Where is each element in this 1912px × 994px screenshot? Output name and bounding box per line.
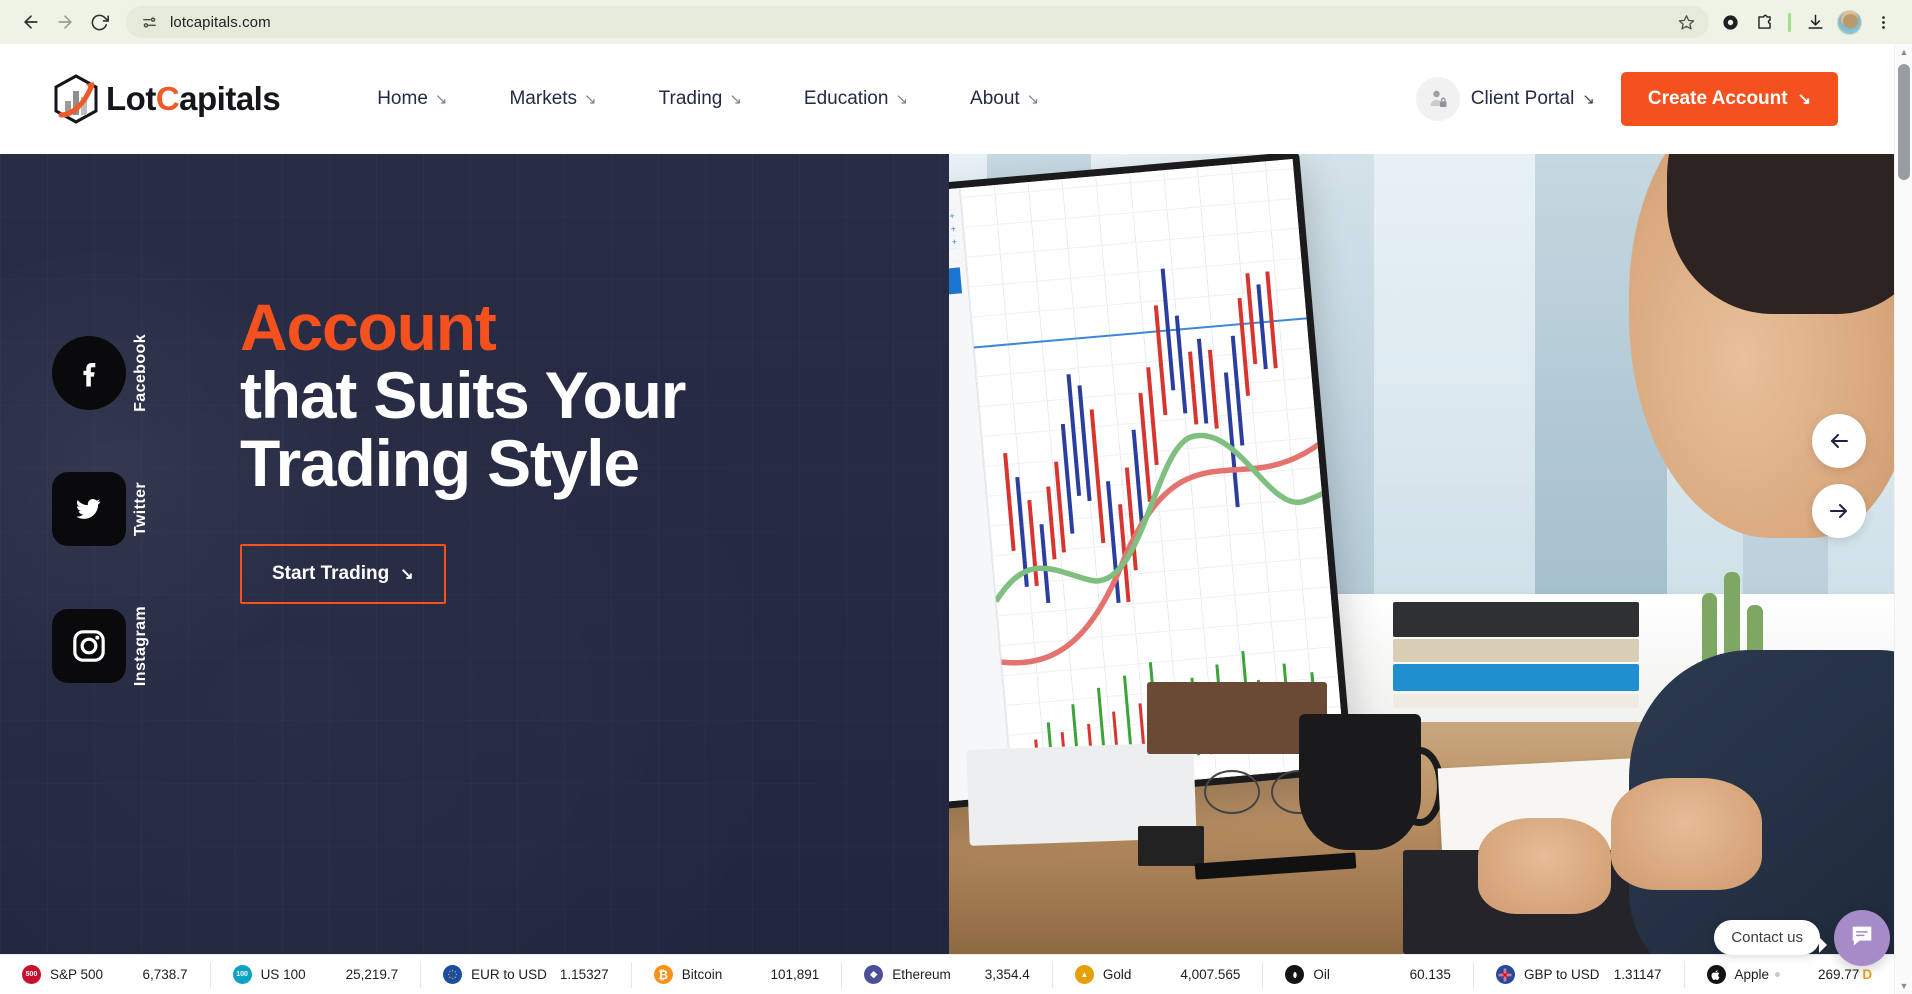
ticker-value: 3,354.4 — [985, 967, 1030, 982]
ticker-name: S&P 500 — [50, 967, 103, 982]
forward-button[interactable] — [48, 5, 82, 39]
sp500-icon: 500 — [22, 965, 41, 984]
us100-icon: 100 — [233, 965, 252, 984]
hero-heading: Account that Suits Your Trading Style — [240, 294, 685, 498]
nav-item-markets[interactable]: Markets ↘ — [478, 88, 627, 110]
nav-label: Markets — [509, 88, 577, 110]
nav-item-home[interactable]: Home ↘ — [346, 88, 478, 110]
ticker-name: Bitcoin — [682, 967, 723, 982]
person-hand-2 — [1478, 818, 1610, 914]
nav-item-about[interactable]: About ↘ — [939, 88, 1070, 110]
nav-label: Home — [377, 88, 428, 110]
ticker-item-gold[interactable]: ▲ Gold 4,007.565 — [1052, 962, 1263, 988]
ticker-item-sp500[interactable]: 500 S&P 500 6,738.7 — [0, 962, 210, 988]
ticker-item-oil[interactable]: Oil 60.135 — [1262, 962, 1473, 988]
social-label-instagram: Instagram — [132, 606, 150, 686]
bookmark-star-icon[interactable] — [1673, 9, 1699, 35]
site-info-icon[interactable] — [136, 9, 162, 35]
ticker-value: 1.15327 — [560, 967, 609, 982]
contact-us-button[interactable] — [1834, 910, 1890, 966]
office-desk-photo: -0.1 + + + Buy — [949, 154, 1894, 954]
hero-heading-line-2: that Suits Your — [240, 362, 685, 430]
chevron-diagonal-icon: ↘ — [729, 92, 742, 107]
carousel-next-button[interactable] — [1812, 484, 1866, 538]
chevron-diagonal-icon: ↘ — [584, 92, 597, 107]
nav-label: Education — [804, 88, 889, 110]
url-text: lotcapitals.com — [170, 14, 271, 31]
binder-clip — [1138, 826, 1204, 866]
carousel-prev-button[interactable] — [1812, 414, 1866, 468]
hero-heading-line-1: Account — [240, 290, 496, 364]
person-hand — [1611, 778, 1762, 890]
ticker-item-bitcoin[interactable]: ₿ Bitcoin 101,891 — [631, 962, 842, 988]
client-portal-label: Client Portal ↘ — [1471, 88, 1595, 110]
gold-icon: ▲ — [1075, 965, 1094, 984]
scroll-up-arrow-icon[interactable]: ▲ — [1895, 44, 1912, 60]
social-link-facebook[interactable]: Facebook — [52, 334, 150, 412]
uk-flag-icon — [1496, 965, 1515, 984]
user-lock-icon — [1416, 77, 1460, 121]
ticker-name: EUR to USD — [471, 967, 547, 982]
social-label-twitter: Twitter — [132, 482, 150, 536]
ticker-status-dot — [1775, 972, 1780, 977]
hero-section: Facebook Twitter Instagram Account that … — [0, 154, 1894, 954]
nav-item-education[interactable]: Education ↘ — [773, 88, 939, 110]
logo-text: LotCapitals — [106, 80, 280, 118]
ticker-item-eurusd[interactable]: EUR to USD 1.15327 — [420, 962, 631, 988]
ticker-value: 1.31147 — [1614, 967, 1662, 982]
nav-item-trading[interactable]: Trading ↘ — [628, 88, 773, 110]
nav-label: Trading — [659, 88, 723, 110]
create-account-label: Create Account — [1648, 88, 1788, 110]
browser-action-icons — [1715, 7, 1898, 37]
chevron-diagonal-icon: ↘ — [435, 92, 448, 107]
chat-bubble-icon — [1848, 922, 1876, 955]
books-stack — [1393, 602, 1639, 706]
chevron-diagonal-icon: ↘ — [400, 564, 413, 584]
start-trading-label: Start Trading — [272, 563, 389, 585]
social-link-instagram[interactable]: Instagram — [52, 606, 150, 686]
ticker-item-ethereum[interactable]: ◆ Ethereum 3,354.4 — [841, 962, 1052, 988]
extensions-icon[interactable] — [1749, 7, 1779, 37]
bitcoin-icon: ₿ — [654, 965, 673, 984]
ticker-name: Apple — [1735, 967, 1770, 982]
ticker-name: GBP to USD — [1524, 967, 1600, 982]
separator — [1788, 13, 1791, 32]
contact-us-tooltip: Contact us — [1714, 920, 1820, 955]
ticker-value-suffix: D — [1862, 967, 1872, 982]
start-trading-button[interactable]: Start Trading ↘ — [240, 544, 446, 604]
apple-icon — [1707, 965, 1726, 984]
profile-avatar[interactable] — [1834, 7, 1864, 37]
ticker-value: 269.77D — [1818, 967, 1872, 982]
ticker-item-gbpusd[interactable]: GBP to USD 1.31147 — [1473, 962, 1684, 988]
ticker-item-us100[interactable]: 100 US 100 25,219.7 — [210, 962, 421, 988]
instagram-icon — [52, 609, 126, 683]
scrollbar-thumb[interactable] — [1898, 64, 1910, 180]
ethereum-icon: ◆ — [864, 965, 883, 984]
browser-toolbar: lotcapitals.com — [0, 0, 1912, 44]
downloads-icon[interactable] — [1800, 7, 1830, 37]
hero-image: -0.1 + + + Buy — [949, 154, 1894, 954]
chevron-diagonal-icon: ↘ — [895, 92, 908, 107]
page-scrollbar[interactable]: ▲ ▼ — [1894, 44, 1912, 994]
ticker-name: Oil — [1313, 967, 1330, 982]
nav-label: About — [970, 88, 1020, 110]
chevron-diagonal-icon: ↘ — [1027, 92, 1040, 107]
site-logo[interactable]: LotCapitals — [50, 73, 280, 125]
ticker-value: 4,007.565 — [1180, 967, 1240, 982]
address-bar[interactable]: lotcapitals.com — [126, 6, 1709, 38]
create-account-button[interactable]: Create Account ↘ — [1621, 72, 1838, 126]
ticker-name: Ethereum — [892, 967, 951, 982]
ticker-value: 60.135 — [1410, 967, 1451, 982]
chrome-menu-icon[interactable] — [1868, 7, 1898, 37]
record-circle-icon[interactable] — [1715, 7, 1745, 37]
ticker-name: Gold — [1103, 967, 1132, 982]
site-header: LotCapitals Home ↘ Markets ↘ Trading ↘ E… — [0, 44, 1894, 154]
social-label-facebook: Facebook — [132, 334, 150, 412]
chevron-diagonal-icon: ↘ — [1582, 90, 1595, 108]
social-link-twitter[interactable]: Twitter — [52, 472, 150, 546]
ticker-value: 101,891 — [770, 967, 819, 982]
scroll-down-arrow-icon[interactable]: ▼ — [1895, 978, 1912, 994]
social-links: Facebook Twitter Instagram — [52, 334, 150, 686]
twitter-icon — [52, 472, 126, 546]
client-portal-link[interactable]: Client Portal ↘ — [1416, 77, 1595, 121]
ticker-value: 6,738.7 — [143, 967, 188, 982]
main-navigation: Home ↘ Markets ↘ Trading ↘ Education ↘ A… — [346, 88, 1070, 110]
market-ticker-bar: 500 S&P 500 6,738.7 100 US 100 25,219.7 … — [0, 954, 1894, 994]
logo-mark-icon — [50, 73, 102, 125]
ticker-value: 25,219.7 — [346, 967, 399, 982]
ticker-name: US 100 — [261, 967, 306, 982]
facebook-icon — [52, 336, 126, 410]
back-button[interactable] — [14, 5, 48, 39]
eu-flag-icon — [443, 965, 462, 984]
coffee-mug — [1299, 714, 1422, 850]
oil-icon — [1285, 965, 1304, 984]
chevron-diagonal-icon: ↘ — [1798, 89, 1811, 109]
header-actions: Client Portal ↘ Create Account ↘ — [1416, 72, 1838, 126]
hero-copy: Account that Suits Your Trading Style St… — [240, 294, 685, 604]
reload-button[interactable] — [82, 5, 116, 39]
carousel-arrows — [1812, 414, 1866, 538]
hero-heading-line-3: Trading Style — [240, 430, 685, 498]
